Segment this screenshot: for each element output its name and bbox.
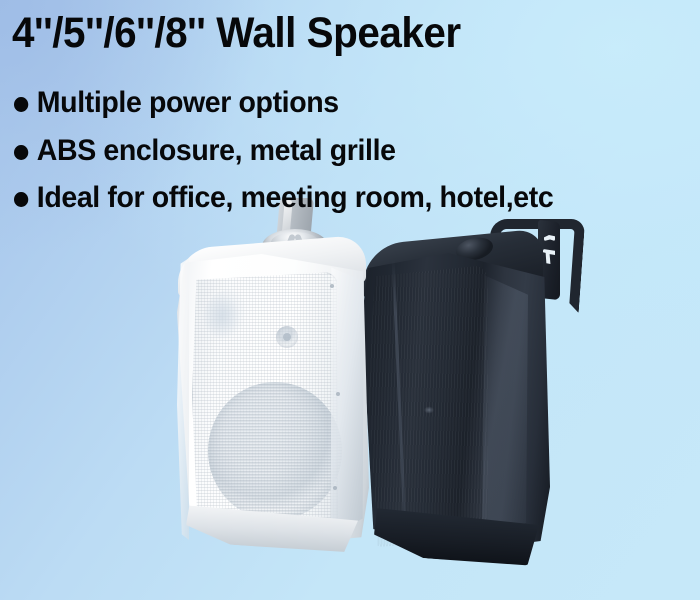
white-speaker-left-lip <box>177 258 189 540</box>
black-speaker-specular-spot <box>422 405 436 415</box>
screw-icon <box>333 486 337 490</box>
round-bullet-icon <box>14 192 28 207</box>
woofer-mesh-texture <box>208 382 342 520</box>
white-speaker-right-side <box>330 262 364 538</box>
screw-icon <box>330 284 334 288</box>
feature-bullet-label: ABS enclosure, metal grille <box>37 136 396 166</box>
black-wall-speaker <box>360 215 570 555</box>
round-bullet-icon <box>14 97 28 112</box>
page-title: 4''/5''/6''/8'' Wall Speaker <box>12 12 461 55</box>
round-bullet-icon <box>14 145 28 160</box>
feature-bullet-item: ABS enclosure, metal grille <box>14 136 396 166</box>
feature-bullet-item: Multiple power options <box>14 88 339 118</box>
screw-icon <box>336 392 340 396</box>
tweeter-center-dot <box>283 333 291 341</box>
white-wall-speaker <box>170 196 380 548</box>
grille-reflection-secondary <box>200 294 248 352</box>
black-speaker-side-highlight <box>480 267 528 545</box>
product-banner: 4''/5''/6''/8'' Wall Speaker Multiple po… <box>0 0 700 600</box>
feature-bullet-label: Ideal for office, meeting room, hotel,et… <box>37 183 554 213</box>
feature-bullet-item: Ideal for office, meeting room, hotel,et… <box>14 183 553 213</box>
feature-bullet-label: Multiple power options <box>37 88 339 118</box>
